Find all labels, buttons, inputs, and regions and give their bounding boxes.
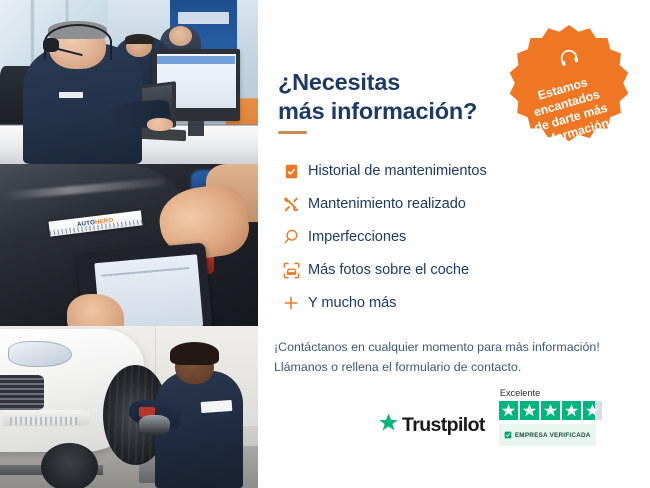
verified-company-text: EMPRESA VERIFICADA <box>515 432 591 439</box>
photo-column: AUTOHERO <box>0 0 258 488</box>
photo1-headset-earcup <box>43 38 60 53</box>
feature-label: Imperfecciones <box>308 229 406 245</box>
trustpilot-logo: Trustpilot <box>378 412 485 446</box>
feature-item-imperfections: Imperfecciones <box>274 221 624 253</box>
check-square-icon <box>504 426 512 444</box>
feature-item-more-photos: Más fotos sobre el coche <box>274 254 624 286</box>
trustpilot-star-icon <box>378 412 399 438</box>
title-divider <box>278 131 307 134</box>
photo3-front-grille <box>0 375 44 411</box>
mechanic-wheel-inspection-photo <box>0 326 258 488</box>
contact-paragraph: ¡Contáctanos en cualquier momento para m… <box>274 337 634 377</box>
call-center-agent-headset-photo <box>0 0 258 164</box>
magnifier-icon <box>274 225 308 249</box>
rating-star <box>520 401 539 420</box>
support-badge: Estamos encantados de darte más informac… <box>506 25 632 151</box>
feature-label: Más fotos sobre el coche <box>308 262 469 278</box>
page-title-line1: ¿Necesitas <box>278 69 400 95</box>
photo1-background-person-head <box>169 26 192 46</box>
rating-star <box>583 401 602 420</box>
car-scan-icon <box>274 258 308 282</box>
rating-star <box>541 401 560 420</box>
content-panel: ¿Necesitas más información? Estamos enca… <box>258 0 650 488</box>
feature-label: Historial de mantenimientos <box>308 163 487 179</box>
feature-item-maintenance-done: Mantenimiento realizado <box>274 188 624 220</box>
verified-company-badge: EMPRESA VERIFICADA <box>499 424 596 446</box>
feature-list: Historial de mantenimientos Mantenimient… <box>274 155 624 320</box>
photo3-mechanic-glove <box>139 415 170 434</box>
photo1-second-agent-hair <box>125 34 153 44</box>
contact-line1: ¡Contáctanos en cualquier momento para m… <box>274 337 634 357</box>
photo3-bumper-vent <box>10 417 77 425</box>
feature-label: Mantenimiento realizado <box>308 196 466 212</box>
photo1-agent-hand <box>147 118 173 131</box>
photo1-agent-name-badge <box>59 92 82 99</box>
photo3-uniform-logo <box>201 399 233 412</box>
clipboard-check-icon <box>274 159 308 183</box>
car-inspection-ruler-tablet-photo: AUTOHERO <box>0 164 258 326</box>
trustpilot-block: Trustpilot Excelente <box>378 388 636 446</box>
trustpilot-stars <box>499 401 602 420</box>
photo1-monitor-stand <box>188 121 203 136</box>
plus-icon <box>274 291 308 315</box>
feature-item-much-more: Y mucho más <box>274 287 624 319</box>
photo3-rear-wheel <box>41 443 98 488</box>
feature-label: Y mucho más <box>308 295 396 311</box>
trustpilot-rating-label: Excelente <box>500 388 540 398</box>
page-title: ¿Necesitas más información? <box>278 68 513 126</box>
promo-card: AUTOHERO <box>0 0 650 488</box>
photo3-headlight <box>8 341 72 367</box>
feature-item-maintenance-history: Historial de mantenimientos <box>274 155 624 187</box>
page-title-line2: más información? <box>278 97 513 126</box>
trustpilot-rating: Excelente EMPRESA VERIFICADA <box>499 388 602 446</box>
contact-line2: Llámanos o rellena el formulario de cont… <box>274 357 634 377</box>
rating-star <box>562 401 581 420</box>
rating-star <box>499 401 518 420</box>
tools-cross-icon <box>274 192 308 216</box>
trustpilot-wordmark: Trustpilot <box>402 414 485 437</box>
photo3-mechanic-hair <box>170 342 219 365</box>
